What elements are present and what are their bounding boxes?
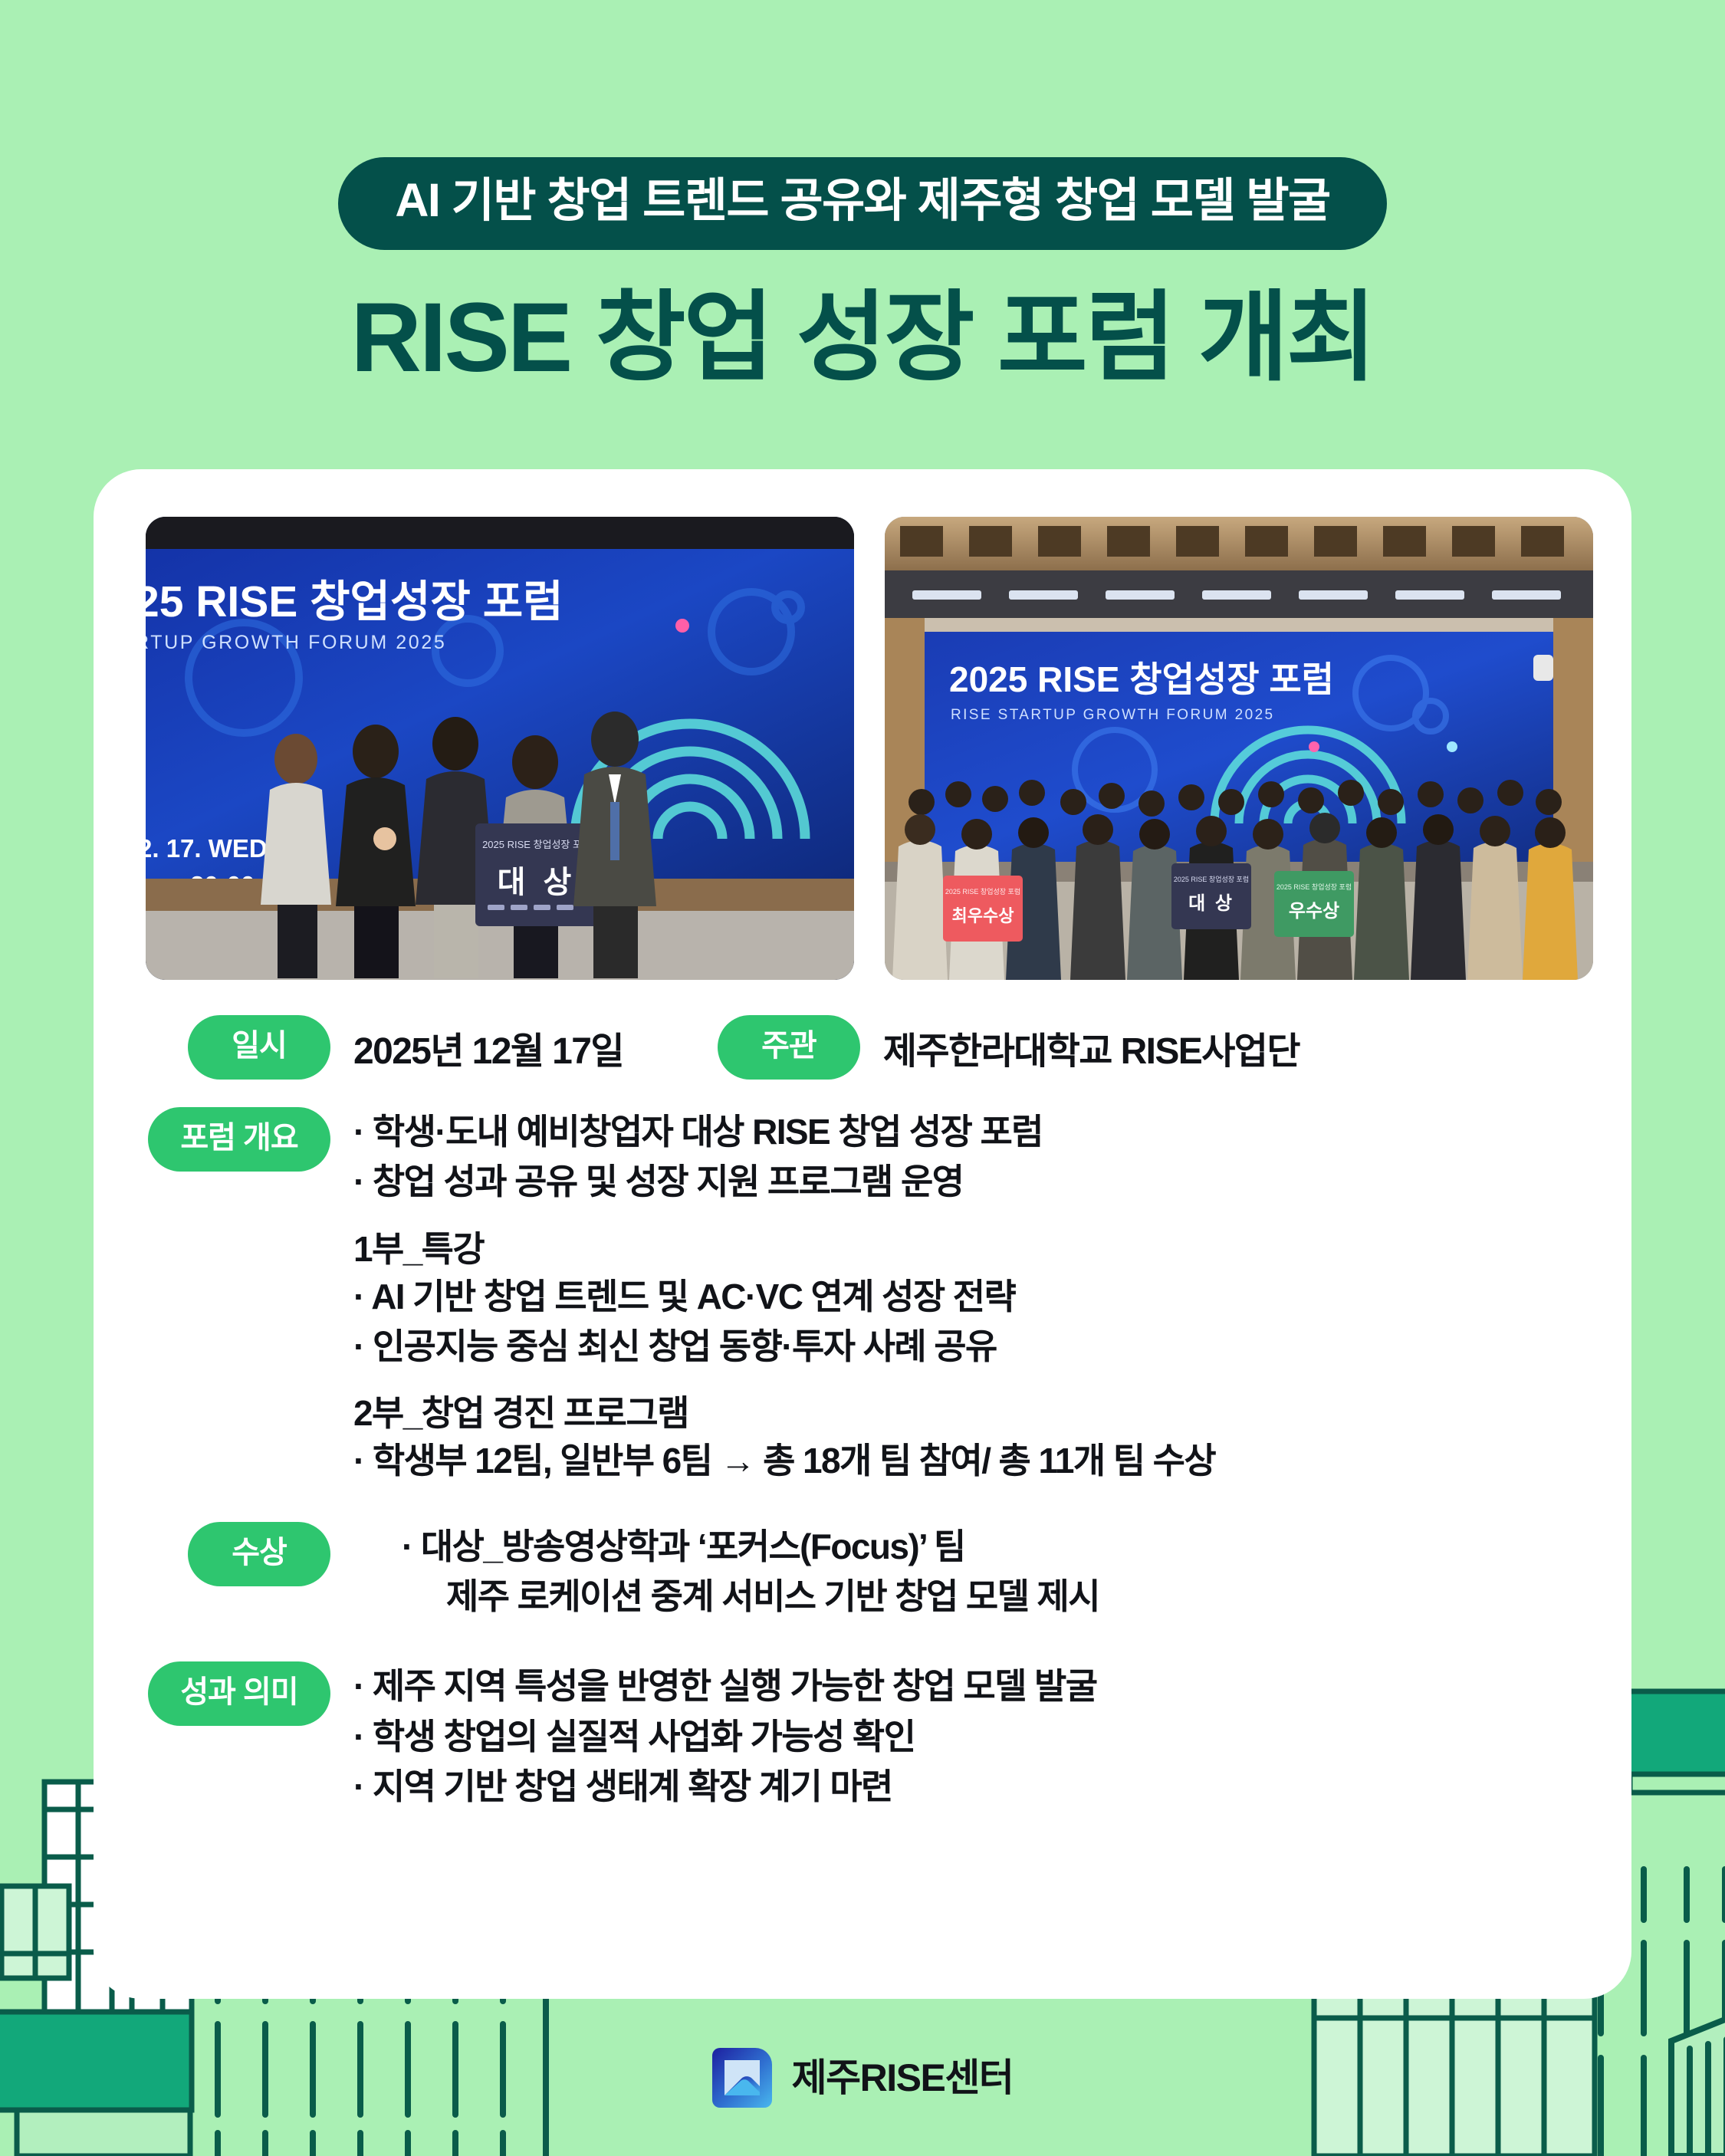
row-outcome: 성과 의미 · 제주 지역 특성을 반영한 실행 가능한 창업 모델 발굴 · … (94, 1661, 1631, 1812)
badge-overview: 포럼 개요 (148, 1107, 330, 1172)
svg-text:RTUP GROWTH FORUM 2025: RTUP GROWTH FORUM 2025 (146, 632, 446, 653)
jeju-rise-center-logo-icon (712, 2048, 772, 2108)
row-date-host: 일시 2025년 12월 17일 주관 제주한라대학교 RISE사업단 (94, 1015, 1631, 1080)
svg-text:2025 RISE 창업성장 포럼: 2025 RISE 창업성장 포럼 (949, 659, 1334, 699)
part1-heading: 1부_특강 (353, 1221, 1215, 1272)
svg-text:2025 RISE 창업성장 포럼: 2025 RISE 창업성장 포럼 (945, 887, 1020, 896)
part2-heading: 2부_창업 경진 프로그램 (353, 1385, 1215, 1436)
overview-line: · 학생·도내 예비창업자 대상 RISE 창업 성장 포럼 (353, 1107, 1215, 1157)
overview-body: · 학생·도내 예비창업자 대상 RISE 창업 성장 포럼 · 창업 성과 공… (330, 1107, 1215, 1487)
poster-root: AI 기반 창업 트렌드 공유와 제주형 창업 모델 발굴 RISE 창업 성장… (0, 0, 1725, 2156)
svg-text:2025 RISE 창업성장 포럼: 2025 RISE 창업성장 포럼 (1276, 882, 1352, 891)
award-line: · 대상_방송영상학과 ‘포커스(Focus)’ 팀 (402, 1522, 1099, 1572)
part2-block: 2부_창업 경진 프로그램 · 학생부 12팀, 일반부 6팀 → 총 18개 … (353, 1385, 1215, 1486)
svg-text:최우수상: 최우수상 (952, 906, 1014, 925)
row-overview: 포럼 개요 · 학생·도내 예비창업자 대상 RISE 창업 성장 포럼 · 창… (94, 1107, 1631, 1487)
badge-host: 주관 (718, 1015, 860, 1080)
host-value: 제주한라대학교 RISE사업단 (860, 1020, 1299, 1074)
svg-text:RISE STARTUP GROWTH FORUM 2025: RISE STARTUP GROWTH FORUM 2025 (951, 707, 1275, 723)
badge-date: 일시 (188, 1015, 330, 1080)
poster-header: AI 기반 창업 트렌드 공유와 제주형 창업 모델 발굴 RISE 창업 성장… (0, 0, 1725, 389)
outcome-body: · 제주 지역 특성을 반영한 실행 가능한 창업 모델 발굴 · 학생 창업의… (330, 1661, 1096, 1812)
subtitle-pill: AI 기반 창업 트렌드 공유와 제주형 창업 모델 발굴 (338, 157, 1386, 250)
part1-block: 1부_특강 · AI 기반 창업 트렌드 및 AC·VC 연계 성장 전략 · … (353, 1221, 1215, 1372)
outcome-line: · 제주 지역 특성을 반영한 실행 가능한 창업 모델 발굴 (353, 1661, 1096, 1711)
award-body: · 대상_방송영상학과 ‘포커스(Focus)’ 팀 제주 로케이션 중계 서비… (330, 1522, 1099, 1622)
photo-gallery: 25 RISE 창업성장 포럼 RTUP GROWTH FORUM 2025 2… (146, 517, 1593, 980)
outcome-line: · 지역 기반 창업 생태계 확장 계기 마련 (353, 1762, 1096, 1812)
badge-outcome: 성과 의미 (148, 1661, 330, 1726)
svg-text:25 RISE 창업성장 포럼: 25 RISE 창업성장 포럼 (146, 577, 563, 626)
svg-text:대 상: 대 상 (1188, 893, 1234, 914)
badge-award: 수상 (188, 1522, 330, 1586)
group-photo-all-winners: 2025 RISE 창업성장 포럼 RISE STARTUP GROWTH FO… (885, 517, 1593, 980)
poster-footer: 제주RISE센터 (0, 1999, 1725, 2156)
part2-line: · 학생부 12팀, 일반부 6팀 → 총 18개 팀 참여/ 총 11개 팀 … (353, 1436, 1215, 1486)
award-line: 제주 로케이션 중계 서비스 기반 창업 모델 제시 (402, 1572, 1099, 1622)
row-award: 수상 · 대상_방송영상학과 ‘포커스(Focus)’ 팀 제주 로케이션 중계… (94, 1522, 1631, 1622)
outcome-line: · 학생 창업의 실질적 사업화 가능성 확인 (353, 1712, 1096, 1762)
page-title: RISE 창업 성장 포럼 개최 (0, 287, 1725, 389)
part1-line: · AI 기반 창업 트렌드 및 AC·VC 연계 성장 전략 (353, 1272, 1215, 1322)
content-card: 25 RISE 창업성장 포럼 RTUP GROWTH FORUM 2025 2… (94, 469, 1631, 1999)
date-value: 2025년 12월 17일 (330, 1020, 623, 1074)
info-section: 일시 2025년 12월 17일 주관 제주한라대학교 RISE사업단 포럼 개… (94, 1015, 1631, 1816)
svg-text:2025 RISE 창업성장 포럼: 2025 RISE 창업성장 포럼 (1174, 875, 1249, 883)
svg-text:우수상: 우수상 (1289, 901, 1339, 922)
part1-line: · 인공지능 중심 최신 창업 동향·투자 사례 공유 (353, 1322, 1215, 1372)
svg-text:2025 RISE 창업성장 포럼: 2025 RISE 창업성장 포럼 (482, 839, 591, 850)
svg-text:2. 17. WED: 2. 17. WED (146, 834, 268, 863)
overview-line: · 창업 성과 공유 및 성장 지원 프로그램 운영 (353, 1157, 1215, 1207)
footer-logo-text: 제주RISE센터 (792, 2059, 1014, 2097)
award-photo-grand-prize: 25 RISE 창업성장 포럼 RTUP GROWTH FORUM 2025 2… (146, 517, 854, 980)
svg-text:대 상: 대 상 (498, 866, 577, 899)
